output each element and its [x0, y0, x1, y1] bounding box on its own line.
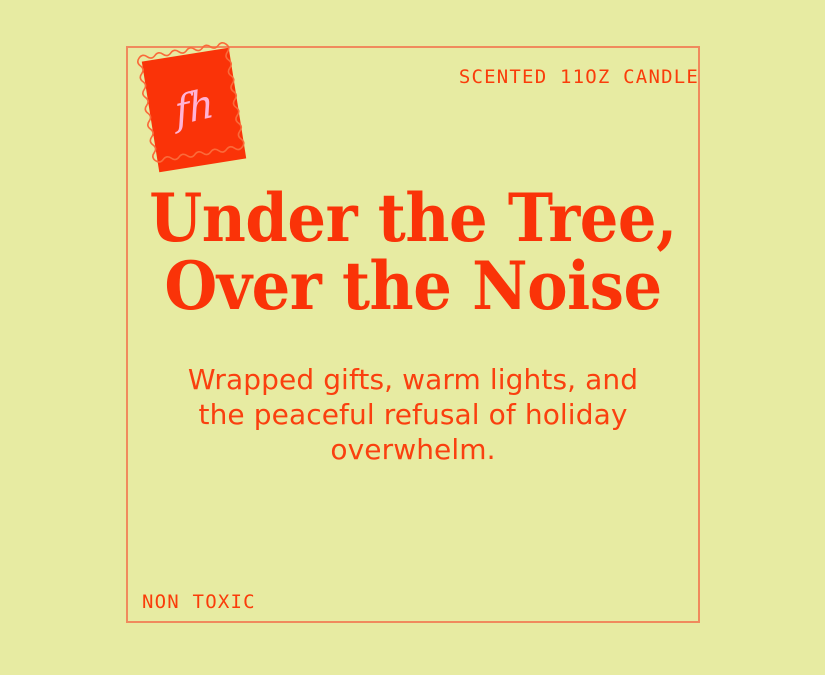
stamp-rotation-group: fh — [132, 37, 255, 184]
page-title: Under the Tree, Over the Noise — [149, 184, 677, 320]
product-eyebrow-label: SCENTED 11OZ CANDLE — [459, 66, 699, 88]
brand-stamp-logo: fh — [142, 44, 246, 176]
stamp-monogram-text: fh — [172, 84, 214, 133]
page-title-line-1: Under the Tree, — [149, 184, 677, 252]
poster-canvas: fh SCENTED 11OZ CANDLE Under the Tree, O… — [0, 0, 825, 675]
body-paragraph: Wrapped gifts, warm lights, and the peac… — [163, 362, 663, 467]
non-toxic-label: NON TOXIC — [142, 591, 256, 613]
stamp-monogram: fh — [132, 37, 255, 184]
page-title-line-2: Over the Noise — [149, 252, 677, 320]
